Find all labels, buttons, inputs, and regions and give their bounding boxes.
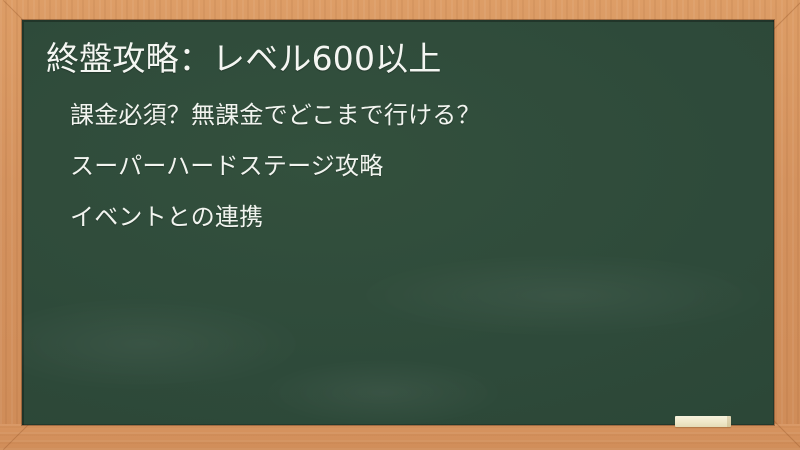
bullet-list: 課金必須？無課金でどこまで行ける？ スーパーハードステージ攻略 イベントとの連携 bbox=[32, 80, 748, 233]
chalkboard-surface: 終盤攻略：レベル600以上 課金必須？無課金でどこまで行ける？ スーパーハードス… bbox=[22, 20, 774, 425]
board-content: 終盤攻略：レベル600以上 課金必須？無課金でどこまで行ける？ スーパーハードス… bbox=[22, 20, 774, 425]
chalkboard-slide: 終盤攻略：レベル600以上 課金必須？無課金でどこまで行ける？ スーパーハードス… bbox=[0, 0, 800, 450]
wooden-frame-ledge bbox=[0, 424, 800, 450]
list-item: スーパーハードステージ攻略 bbox=[70, 151, 748, 183]
slide-title: 終盤攻略：レベル600以上 bbox=[32, 34, 748, 80]
list-item: イベントとの連携 bbox=[70, 202, 748, 234]
list-item: 課金必須？無課金でどこまで行ける？ bbox=[70, 100, 748, 132]
chalk-stick-icon bbox=[675, 416, 731, 427]
